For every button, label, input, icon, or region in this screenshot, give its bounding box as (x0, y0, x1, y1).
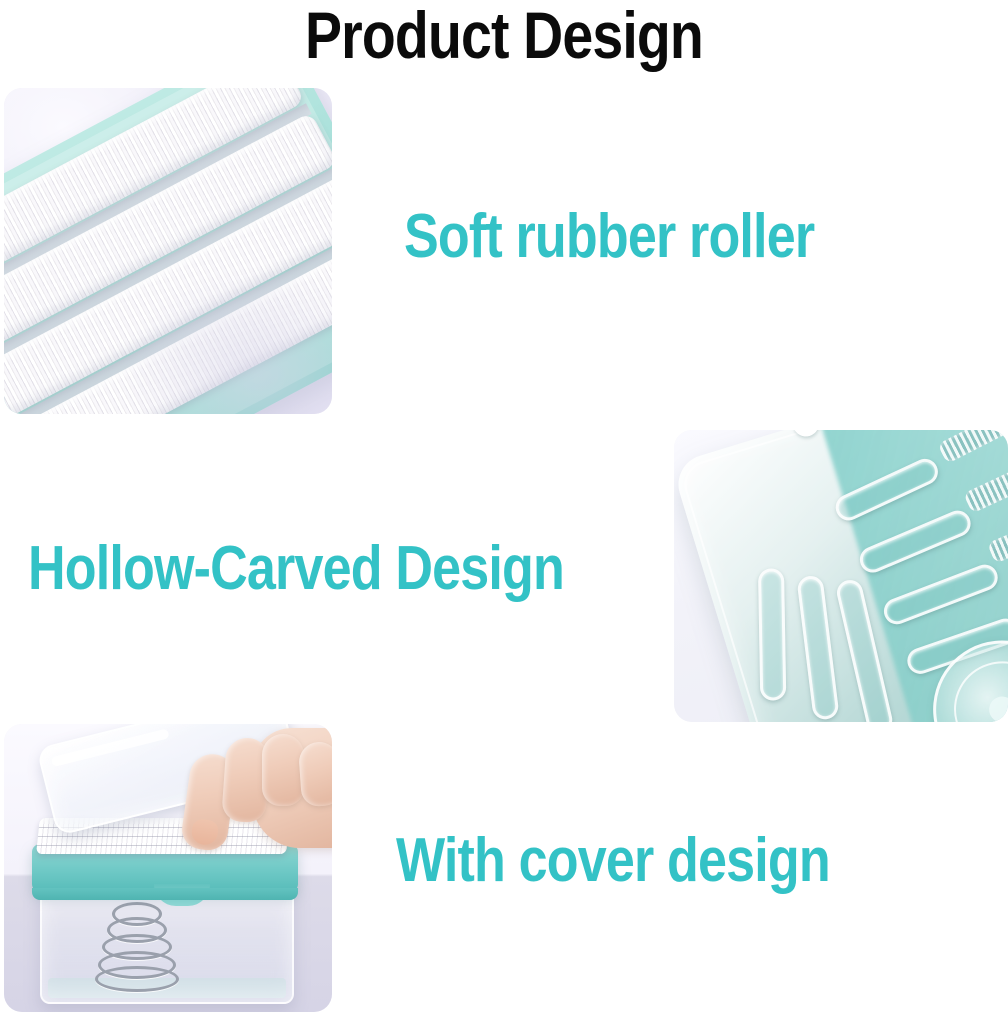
feature-photo-with-cover-design (4, 724, 332, 1012)
photo-vignette (4, 88, 332, 414)
feature-label-hollow-carved-design: Hollow-Carved Design (28, 536, 564, 602)
fingernail (190, 818, 219, 846)
hang-notch (793, 430, 822, 440)
hand (182, 728, 332, 864)
carved-slot (796, 575, 839, 721)
feature-label-soft-rubber-roller: Soft rubber roller (404, 204, 814, 270)
feature-photo-hollow-carved-design (674, 430, 1008, 722)
metal-spring (98, 902, 176, 982)
carved-slot (758, 568, 786, 700)
feature-photo-soft-rubber-roller (4, 88, 332, 414)
page-title: Product Design (81, 0, 928, 70)
spring-coil (95, 966, 179, 992)
little-finger (298, 741, 332, 808)
feature-label-with-cover-design: With cover design (396, 828, 830, 894)
ring-finger (262, 734, 304, 806)
infographic-canvas: Product Design Soft rubber roller Hollow… (0, 0, 1008, 1024)
